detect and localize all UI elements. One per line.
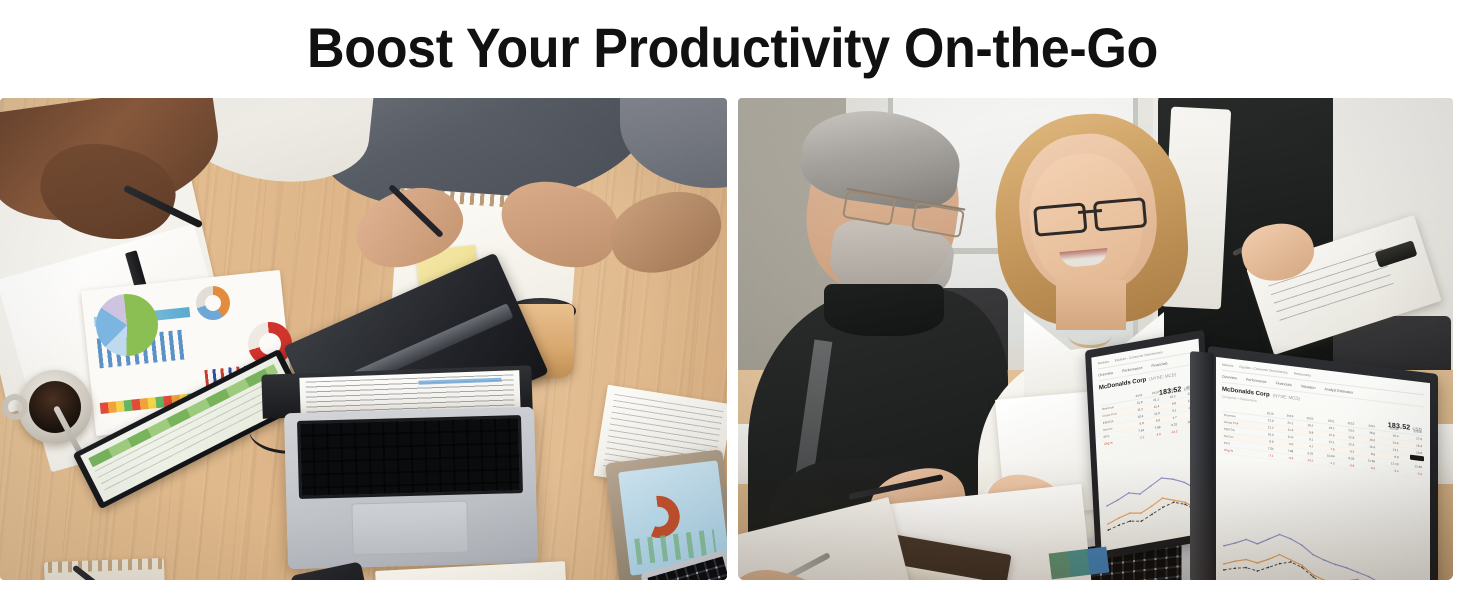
tab-performance-r[interactable]: Performance	[1246, 378, 1267, 385]
donut-chart-icon	[196, 286, 230, 320]
tab-overview[interactable]: Overview	[1098, 371, 1113, 378]
company-name: McDonalds Corp	[1099, 377, 1147, 391]
company-ticker-r: (NYSE: MCD)	[1273, 393, 1300, 401]
tab-overview-r[interactable]: Overview	[1222, 375, 1237, 381]
page-title: Boost Your Productivity On-the-Go	[307, 20, 1158, 76]
promo-banner: Boost Your Productivity On-the-Go	[0, 0, 1464, 600]
tab-estimates-r[interactable]: Analyst Estimates	[1324, 387, 1353, 395]
tab-financials[interactable]: Financials	[1151, 361, 1167, 368]
price-currency-r: USD	[1413, 426, 1422, 432]
keyboard-keys	[300, 418, 520, 496]
desk-shadow	[738, 460, 1453, 580]
tab-valuation-r[interactable]: Valuation	[1301, 384, 1316, 390]
laptop-trackpad	[351, 500, 468, 555]
cell-0: -2.1	[1256, 450, 1276, 459]
headline-container: Boost Your Productivity On-the-Go	[0, 0, 1464, 96]
cell-2: -14.2	[1163, 427, 1180, 437]
breadcrumb-item-0[interactable]: Markets	[1098, 360, 1109, 366]
breadcrumb-item-0-r[interactable]: Markets	[1222, 363, 1233, 368]
company-ticker: (NYSE: MCD)	[1149, 372, 1176, 382]
photo-strip: Markets Equities › Consumer Discretionar…	[0, 98, 1464, 580]
right-photo: Markets Equities › Consumer Discretionar…	[738, 98, 1453, 580]
cell-1: -4.6	[1146, 430, 1163, 440]
man-shirt-collar	[824, 284, 944, 336]
breadcrumb-item-2-r[interactable]: Restaurants	[1294, 371, 1311, 377]
tab-performance[interactable]: Performance	[1122, 366, 1143, 374]
coffee-mug-handle	[2, 394, 28, 420]
cell-0: -2.1	[1130, 433, 1147, 443]
woman-necklace	[1068, 322, 1112, 348]
laptop-keyboard	[297, 415, 523, 499]
tab-financials-r[interactable]: Financials	[1276, 381, 1292, 387]
left-photo	[0, 98, 727, 580]
